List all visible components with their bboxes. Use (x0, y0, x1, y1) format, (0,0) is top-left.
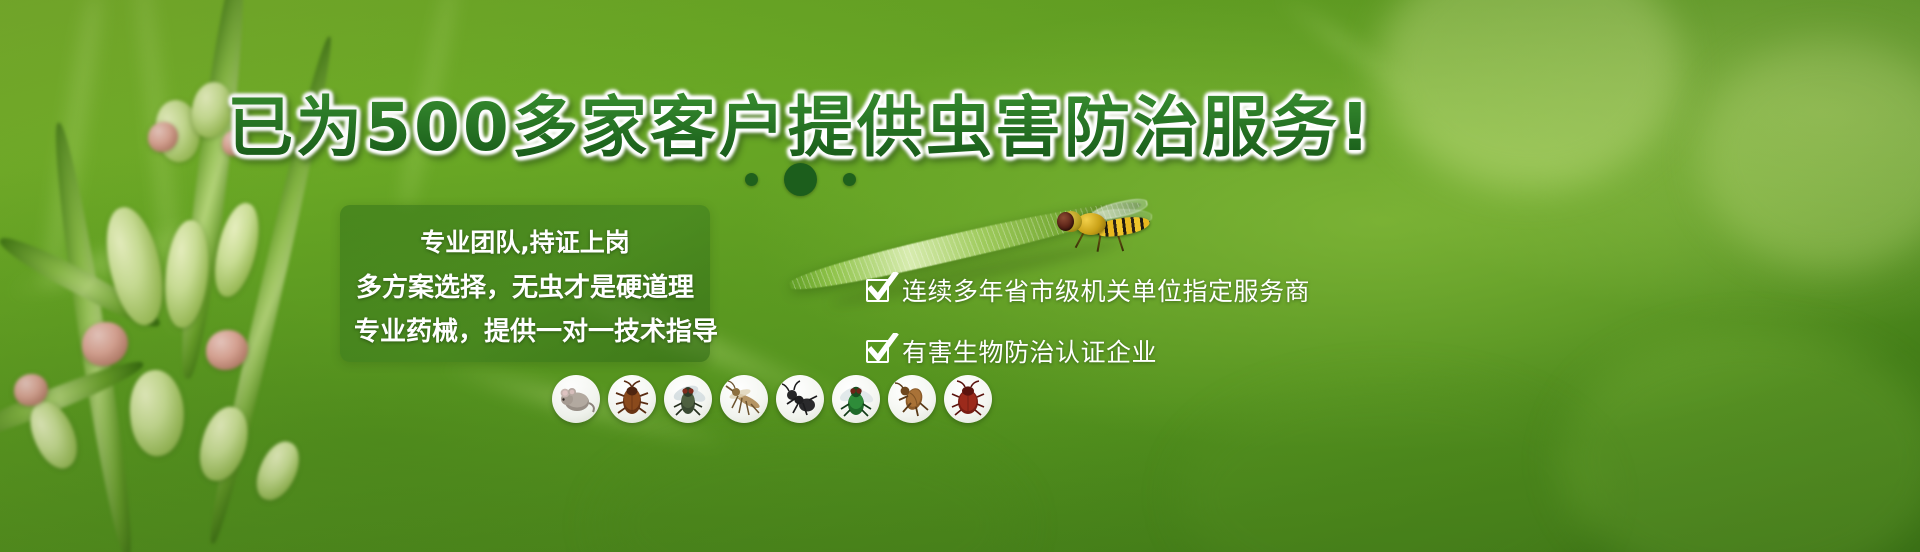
page-title: 已为500多家客户提供虫害防治服务! (0, 74, 1600, 170)
credential-label: 连续多年省市级机关单位指定服务商 (902, 272, 1310, 308)
checkbox-checked-icon (866, 279, 889, 302)
selling-point-line-2: 多方案选择，无虫才是硬道理 (354, 267, 696, 304)
background-bokeh (1180, 380, 1600, 552)
dot-large-icon (784, 163, 817, 196)
rodent-mouse-icon[interactable] (552, 375, 600, 423)
promo-banner: 已为500多家客户提供虫害防治服务! 专业团队,持证上岗 多方案选择，无虫才是硬… (0, 0, 1920, 552)
selling-point-line-1: 专业团队,持证上岗 (354, 223, 696, 259)
selling-points-panel: 专业团队,持证上岗 多方案选择，无虫才是硬道理 专业药械，提供一对一技术指导 (340, 205, 710, 362)
cockroach-icon[interactable] (608, 375, 656, 423)
flea-icon[interactable] (888, 375, 936, 423)
blowfly-icon[interactable] (832, 375, 880, 423)
list-item: 有害生物防治认证企业 (866, 333, 1336, 369)
checkbox-checked-icon (866, 340, 889, 363)
decorative-dots (0, 163, 1600, 196)
bedbug-icon[interactable] (944, 375, 992, 423)
housefly-icon[interactable] (664, 375, 712, 423)
mosquito-icon[interactable] (720, 375, 768, 423)
dot-small-icon (843, 173, 856, 186)
pest-type-icon-row (552, 375, 992, 423)
list-item: 连续多年省市级机关单位指定服务商 (866, 272, 1336, 308)
selling-point-line-3: 专业药械，提供一对一技术指导 (354, 311, 696, 348)
background-bokeh (600, 430, 1020, 552)
background-bokeh (1700, 40, 1920, 270)
hoverfly-insect-image (1054, 196, 1162, 252)
credential-label: 有害生物防治认证企业 (902, 333, 1157, 369)
dot-small-icon (745, 173, 758, 186)
ant-icon[interactable] (776, 375, 824, 423)
background-bokeh (1560, 330, 1920, 552)
